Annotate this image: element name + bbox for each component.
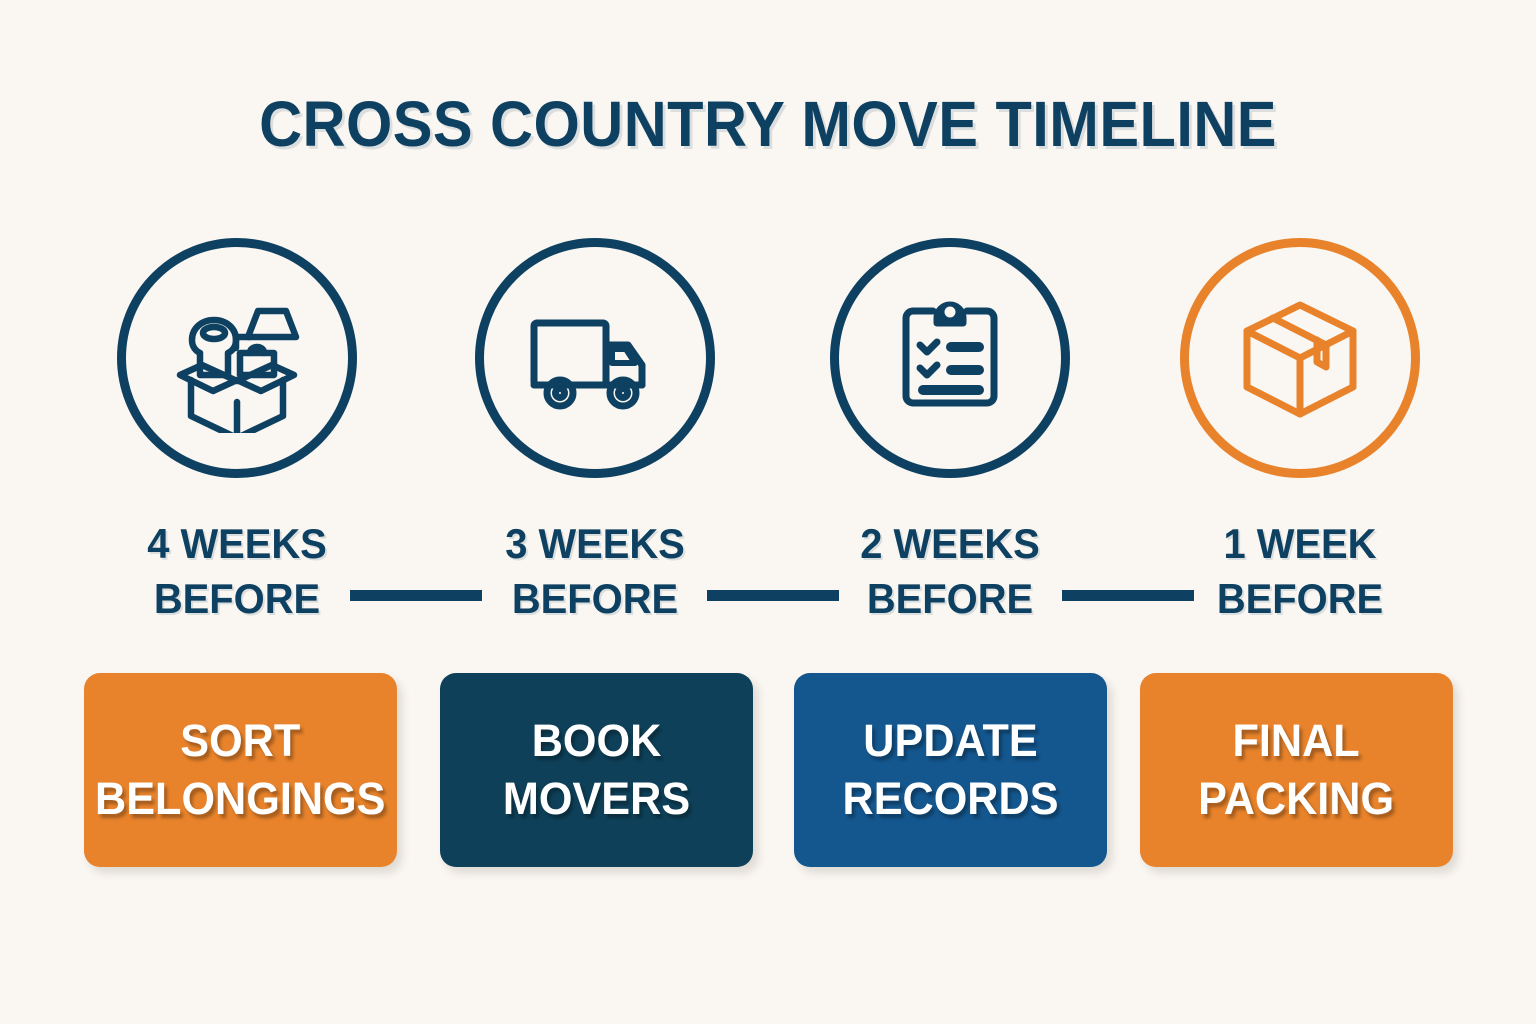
moving-truck-icon xyxy=(475,238,715,478)
period-line-2: BEFORE xyxy=(1158,571,1443,626)
action-card-update-records[interactable]: UPDATE RECORDS xyxy=(794,673,1107,867)
period-caption-3: 2 WEEKS BEFORE xyxy=(808,516,1093,626)
clipboard-checklist-icon xyxy=(830,238,1070,478)
action-line-2: MOVERS xyxy=(503,770,690,828)
timeline-node-4[interactable] xyxy=(1180,238,1420,478)
action-line-1: UPDATE xyxy=(842,712,1058,770)
timeline-node-3[interactable] xyxy=(830,238,1070,478)
timeline-node-1[interactable] xyxy=(117,238,357,478)
period-caption-1: 4 WEEKS BEFORE xyxy=(95,516,380,626)
action-line-1: SORT xyxy=(95,712,385,770)
infographic-canvas: CROSS COUNTRY MOVE TIMELINE xyxy=(0,0,1536,1024)
period-captions: 4 WEEKS BEFORE 3 WEEKS BEFORE 2 WEEKS BE… xyxy=(0,516,1536,636)
timeline-track xyxy=(0,238,1536,480)
page-title: CROSS COUNTRY MOVE TIMELINE xyxy=(54,88,1482,160)
action-card-label: FINAL PACKING xyxy=(1198,712,1394,828)
period-line-2: BEFORE xyxy=(453,571,738,626)
action-card-sort-belongings[interactable]: SORT BELONGINGS xyxy=(84,673,397,867)
action-card-label: UPDATE RECORDS xyxy=(842,712,1058,828)
sealed-package-box-icon xyxy=(1180,238,1420,478)
action-line-1: FINAL xyxy=(1198,712,1394,770)
action-line-2: PACKING xyxy=(1198,770,1394,828)
period-line-1: 1 WEEK xyxy=(1158,516,1443,571)
period-line-1: 3 WEEKS xyxy=(453,516,738,571)
timeline-node-2[interactable] xyxy=(475,238,715,478)
action-card-book-movers[interactable]: BOOK MOVERS xyxy=(440,673,753,867)
action-line-2: RECORDS xyxy=(842,770,1058,828)
period-line-1: 4 WEEKS xyxy=(95,516,380,571)
action-card-final-packing[interactable]: FINAL PACKING xyxy=(1140,673,1453,867)
action-line-1: BOOK xyxy=(503,712,690,770)
action-card-label: SORT BELONGINGS xyxy=(95,712,385,828)
open-box-with-items-icon xyxy=(117,238,357,478)
action-card-label: BOOK MOVERS xyxy=(503,712,690,828)
period-caption-4: 1 WEEK BEFORE xyxy=(1158,516,1443,626)
period-line-1: 2 WEEKS xyxy=(808,516,1093,571)
period-caption-2: 3 WEEKS BEFORE xyxy=(453,516,738,626)
action-cards: SORT BELONGINGS BOOK MOVERS UPDATE RECOR… xyxy=(0,673,1536,868)
period-line-2: BEFORE xyxy=(95,571,380,626)
action-line-2: BELONGINGS xyxy=(95,770,385,828)
period-line-2: BEFORE xyxy=(808,571,1093,626)
